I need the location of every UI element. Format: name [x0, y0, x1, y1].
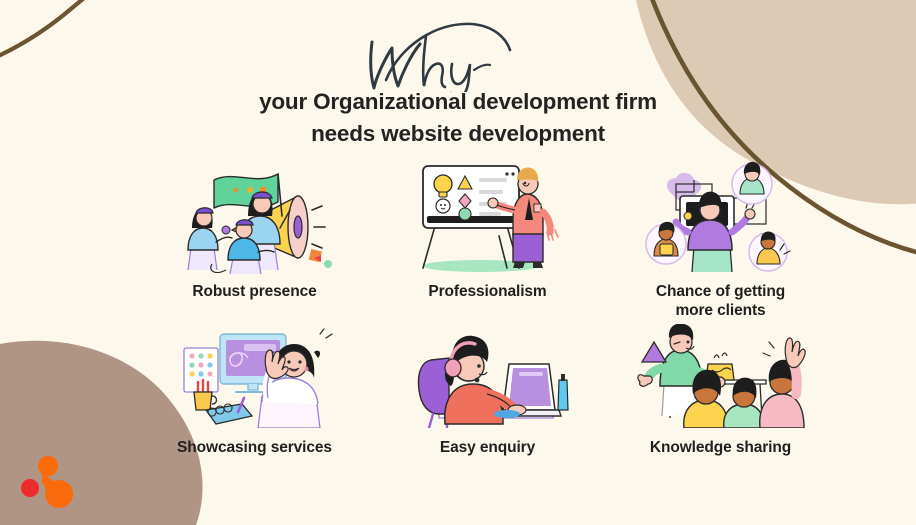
card-robust-presence: Robust presence: [138, 158, 371, 324]
logo-dot-top: [38, 456, 58, 476]
support-agent-with-headset-at-laptop-illustration: [403, 324, 573, 428]
card-label-easy-enquiry: Easy enquiry: [440, 438, 535, 457]
logo-dot-small: [21, 479, 39, 497]
card-showcasing-services: Showcasing services: [138, 324, 371, 486]
infographic-canvas: your Organizational development firm nee…: [0, 0, 916, 525]
why-letter-h: [423, 36, 445, 87]
card-label-professionalism: Professionalism: [428, 282, 546, 301]
card-label-robust-presence: Robust presence: [192, 282, 316, 301]
card-knowledge-sharing: Knowledge sharing: [604, 324, 837, 486]
script-why-word: [328, 18, 588, 92]
headline-line-2: needs website development: [0, 118, 916, 150]
card-label-line-2: more clients: [656, 301, 785, 320]
card-label-line-1: Chance of getting: [656, 282, 785, 301]
card-professionalism: Professionalism: [371, 158, 604, 324]
video-call-network-avatars-illustration: [636, 158, 806, 276]
people-with-flag-and-megaphone-illustration: [170, 158, 340, 276]
why-tail: [474, 65, 490, 70]
brand-logo[interactable]: [18, 452, 80, 510]
card-label-knowledge-sharing: Knowledge sharing: [650, 438, 791, 457]
card-easy-enquiry: Easy enquiry: [371, 324, 604, 486]
why-letter-y: [451, 64, 470, 92]
card-chance-of-getting-more-clients: Chance of getting more clients: [604, 158, 837, 324]
man-presenting-at-whiteboard-illustration: [403, 158, 573, 276]
card-label-chance-of-getting-more-clients: Chance of getting more clients: [656, 282, 785, 321]
teacher-with-students-raising-hands-illustration: [636, 324, 806, 428]
card-label-showcasing-services: Showcasing services: [177, 438, 332, 457]
woman-waving-at-desktop-monitor-illustration: [170, 324, 340, 428]
benefits-grid: Robust presence: [138, 158, 838, 486]
